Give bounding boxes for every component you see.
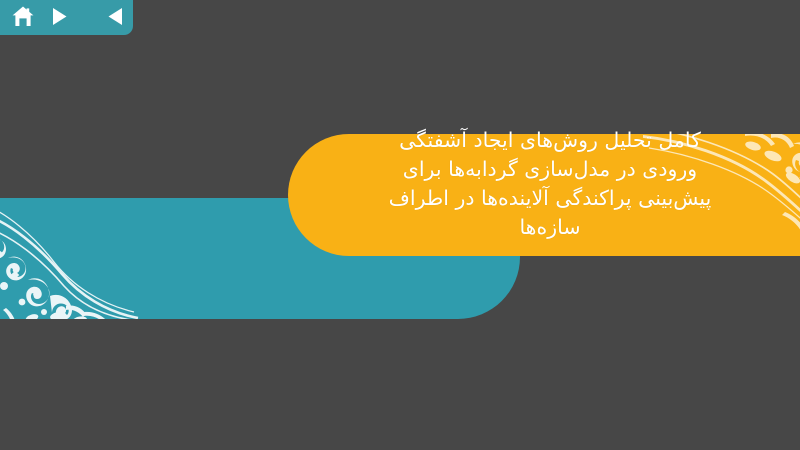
teal-arabesque-ornament	[0, 198, 178, 319]
forward-button[interactable]	[41, 2, 77, 30]
back-triangle-icon	[107, 7, 124, 26]
title-line-4: سازه‌ها	[300, 213, 800, 242]
title-line-3: پیش‌بینی پراکندگی آلاینده‌ها در اطراف	[300, 184, 800, 213]
home-button[interactable]	[5, 2, 41, 30]
navigation-bar	[0, 0, 133, 35]
title-line-1: کامل تحلیل روش‌های ایجاد آشفتگی	[300, 126, 800, 155]
title-line-2: ورودی در مدل‌سازی گردابه‌ها برای	[300, 155, 800, 184]
presentation-slide: کامل تحلیل روش‌های ایجاد آشفتگی ورودی در…	[0, 0, 800, 450]
slide-title: کامل تحلیل روش‌های ایجاد آشفتگی ورودی در…	[300, 126, 800, 242]
home-icon	[12, 6, 34, 27]
back-button[interactable]	[97, 2, 133, 30]
forward-triangle-icon	[51, 7, 68, 26]
